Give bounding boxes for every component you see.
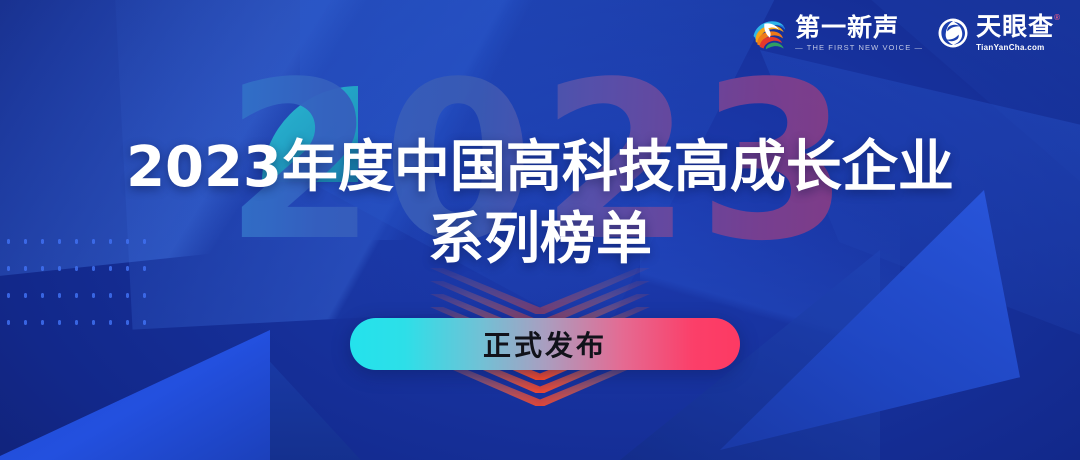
page-title: 2023年度中国高科技高成长企业 系列榜单 [0, 132, 1080, 276]
logo-tianyancha-text: 天眼查 ® TianYanCha.com [976, 14, 1060, 52]
award-announcement-banner: 2023 2023年度中国高科技高成长企业 系列榜单 正式发布 [0, 0, 1080, 460]
logo-tianyancha-name: 天眼查 [976, 14, 1054, 39]
logo-tianyancha-tagline: TianYanCha.com [976, 44, 1060, 52]
bottom-left-triangle-2 [250, 340, 370, 460]
logo-diyixinsheng[interactable]: 第一新声 — THE FIRST NEW VOICE — [750, 15, 923, 52]
release-status-badge[interactable]: 正式发布 [350, 318, 740, 370]
aperture-lens-icon [937, 17, 969, 49]
logo-tianyancha[interactable]: 天眼查 ® TianYanCha.com [937, 14, 1060, 52]
logo-diyixinsheng-tagline: — THE FIRST NEW VOICE — [795, 44, 923, 52]
release-status-label: 正式发布 [483, 324, 607, 364]
logo-tianyancha-name-wrap: 天眼查 ® [976, 14, 1060, 39]
partner-logos: 第一新声 — THE FIRST NEW VOICE — 天眼查 ® TianY… [750, 14, 1060, 52]
bottom-left-triangle-1 [0, 330, 270, 460]
logo-diyixinsheng-name: 第一新声 [795, 15, 923, 40]
title-line-1: 2023年度中国高科技高成长企业 [0, 132, 1080, 204]
title-line-2: 系列榜单 [0, 204, 1080, 276]
registered-trademark-icon: ® [1054, 14, 1060, 22]
ribbon-swirl-icon [750, 16, 788, 50]
logo-diyixinsheng-text: 第一新声 — THE FIRST NEW VOICE — [795, 15, 923, 52]
